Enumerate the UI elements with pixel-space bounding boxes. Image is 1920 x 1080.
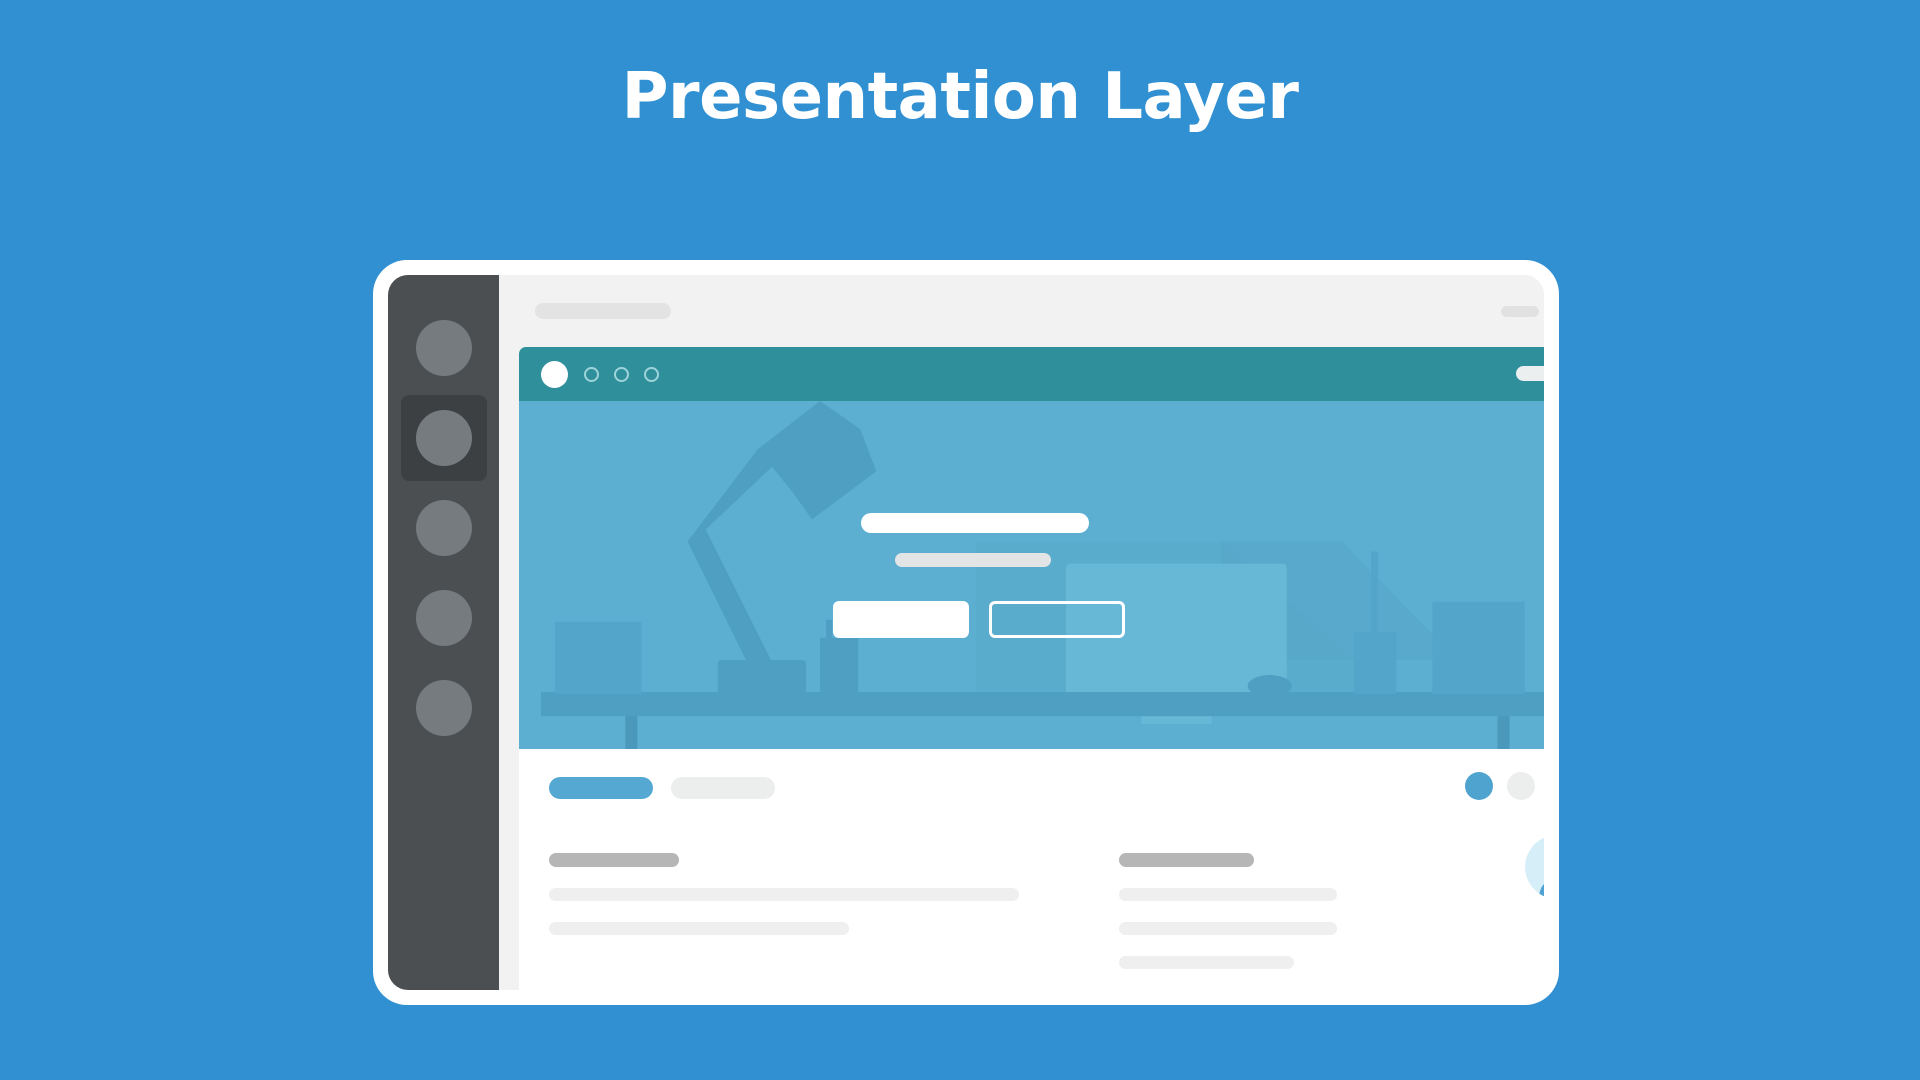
column-text-line	[1119, 956, 1294, 969]
hero-content	[861, 513, 1421, 638]
tab-active[interactable]	[549, 777, 653, 799]
browser-toolbar	[519, 347, 1544, 401]
hero-headline	[861, 513, 1089, 533]
sidebar-item-2[interactable]	[401, 395, 487, 481]
content-columns	[549, 853, 1544, 969]
hero-section	[519, 401, 1544, 749]
app-sidebar	[388, 275, 499, 990]
column-text-line	[1119, 922, 1337, 935]
hero-primary-button[interactable]	[833, 601, 969, 638]
sidebar-icon-2-icon	[416, 410, 472, 466]
toggle-dot-on[interactable]	[1465, 772, 1493, 800]
toggle-dot-off[interactable]	[1507, 772, 1535, 800]
tablet-device-frame	[373, 260, 1559, 1005]
content-section	[519, 749, 1544, 990]
browser-window	[519, 347, 1544, 990]
column-text-line	[549, 922, 849, 935]
browser-dot-3-icon[interactable]	[644, 367, 659, 382]
content-column-left	[549, 853, 1019, 969]
browser-dot-1-icon[interactable]	[584, 367, 599, 382]
tab-bar	[549, 777, 1544, 799]
toggle-dot-group	[1465, 772, 1535, 800]
app-header	[499, 275, 1544, 347]
sidebar-icon-4-icon	[416, 590, 472, 646]
search-input[interactable]	[535, 303, 671, 319]
column-text-line	[549, 888, 1019, 901]
tab-inactive[interactable]	[671, 777, 775, 799]
sidebar-item-4[interactable]	[401, 575, 487, 661]
browser-dot-2-icon[interactable]	[614, 367, 629, 382]
page-title: Presentation Layer	[0, 60, 1920, 134]
sidebar-item-3[interactable]	[401, 485, 487, 571]
address-bar[interactable]	[1516, 366, 1544, 381]
column-heading	[1119, 853, 1254, 867]
sidebar-item-1[interactable]	[401, 305, 487, 391]
main-panel	[499, 275, 1544, 990]
tablet-screen	[388, 275, 1544, 990]
sidebar-icon-3-icon	[416, 500, 472, 556]
hero-secondary-button[interactable]	[989, 601, 1125, 638]
content-column-right	[1119, 853, 1544, 969]
sidebar-item-5[interactable]	[401, 665, 487, 751]
browser-dot-active-icon[interactable]	[541, 361, 568, 388]
hero-button-group	[833, 601, 1421, 638]
column-text-line	[1119, 888, 1337, 901]
header-label	[1501, 306, 1539, 317]
sidebar-icon-1-icon	[416, 320, 472, 376]
sidebar-icon-5-icon	[416, 680, 472, 736]
hero-subheadline	[895, 553, 1051, 567]
column-heading	[549, 853, 679, 867]
